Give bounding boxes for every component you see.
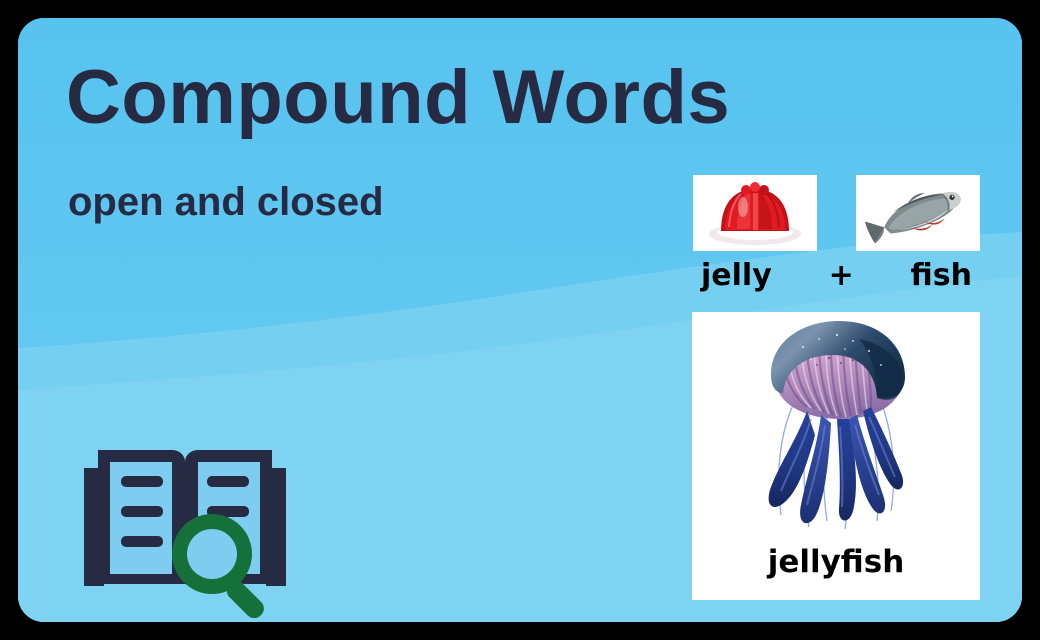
image-card-jellyfish[interactable]: jellyfish (692, 312, 980, 600)
slide-canvas: Compound Words open and closed (18, 18, 1022, 622)
image-card-fish[interactable] (856, 175, 980, 251)
book-search-icon (80, 428, 290, 618)
equation-row: jelly + fish (693, 258, 980, 293)
slide-frame: Compound Words open and closed (0, 0, 1040, 640)
fish-photo (856, 175, 980, 251)
plus-operator: + (829, 258, 854, 293)
jellyfish-photo (741, 315, 931, 540)
page-title: Compound Words (66, 58, 730, 138)
word-label-part-one: jelly (701, 258, 772, 293)
image-card-jelly[interactable] (693, 175, 817, 251)
word-label-part-two: fish (911, 258, 972, 293)
jelly-dessert-photo (693, 175, 817, 251)
compound-word-label: jellyfish (692, 544, 980, 580)
jellyfish-art-wrap (692, 312, 980, 542)
page-subtitle: open and closed (68, 180, 384, 225)
